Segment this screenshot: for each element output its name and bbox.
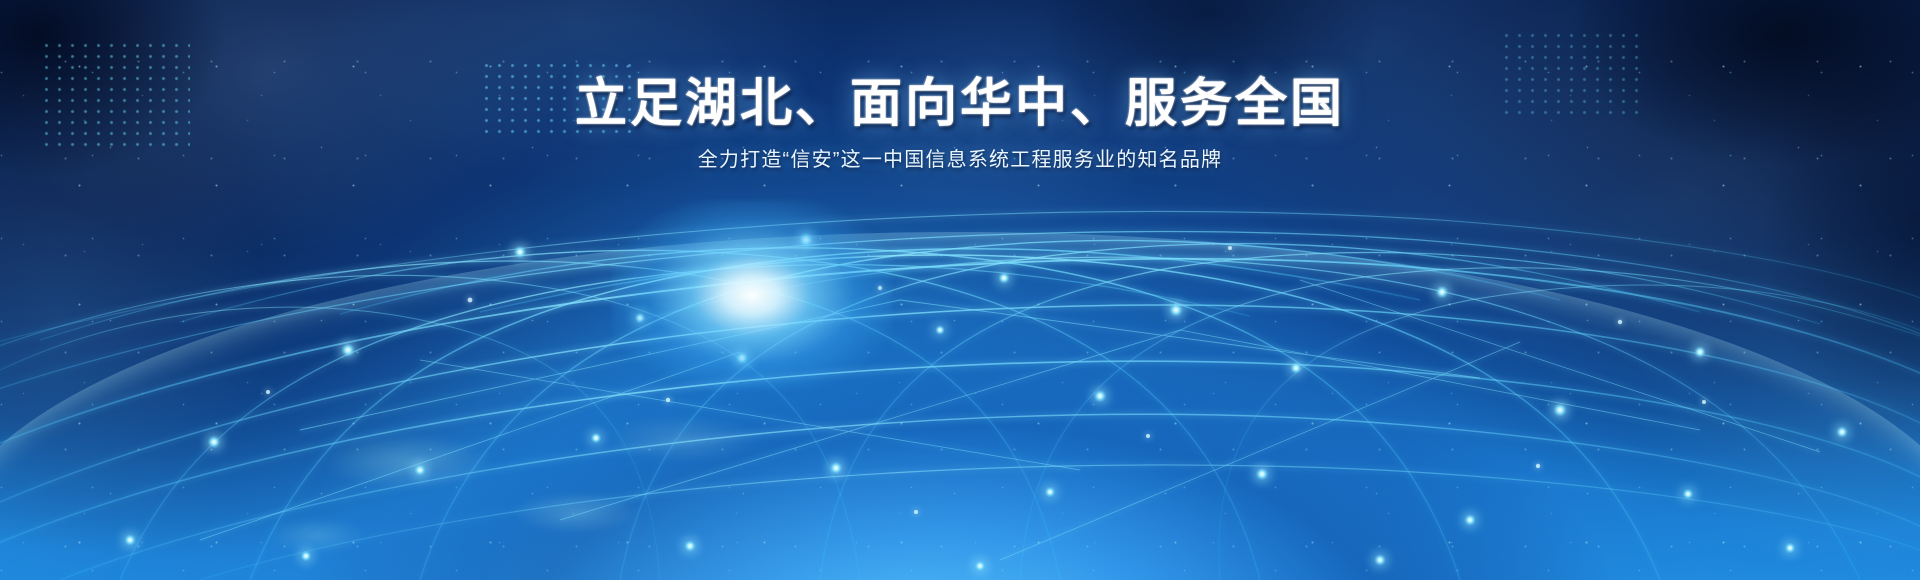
banner-subline: 全力打造“信安”这一中国信息系统工程服务业的知名品牌 [0,150,1920,170]
hero-banner: 立足湖北、面向华中、服务全国 全力打造“信安”这一中国信息系统工程服务业的知名品… [0,0,1920,580]
banner-text-block: 立足湖北、面向华中、服务全国 全力打造“信安”这一中国信息系统工程服务业的知名品… [0,78,1920,170]
banner-headline: 立足湖北、面向华中、服务全国 [0,78,1920,130]
